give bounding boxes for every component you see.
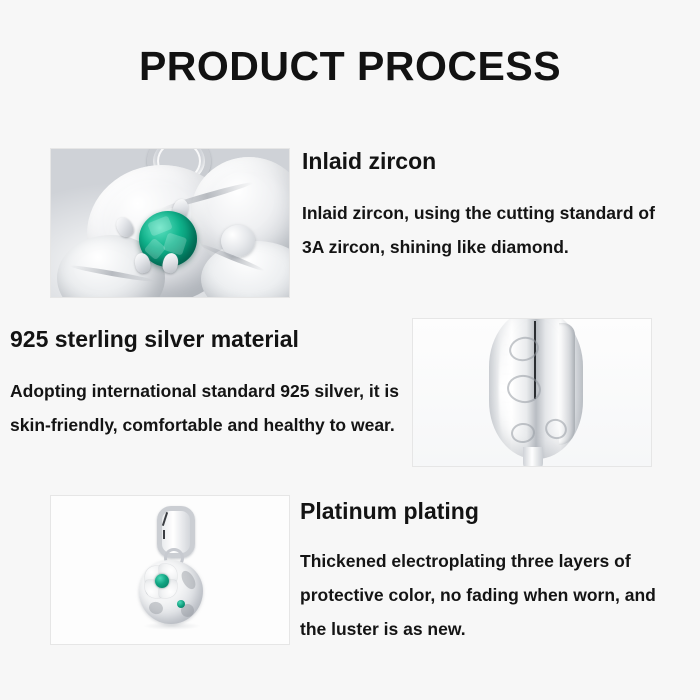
section-heading-platinum-plating: Platinum plating [300,498,479,526]
photo-backdrop [51,496,289,644]
section-body-inlaid-zircon: Inlaid zircon, using the cutting standar… [302,196,674,264]
photo-backdrop [413,319,651,466]
openwork-cutout [148,600,164,615]
green-zircon-stone [155,574,169,588]
clasp-stem [523,447,543,467]
product-photo-inlaid-zircon[interactable] [50,148,290,298]
section-heading-inlaid-zircon: Inlaid zircon [302,148,436,176]
green-accent-stone [177,600,185,608]
openwork-cutout [179,569,199,592]
section-heading-silver-material: 925 sterling silver material [10,326,299,354]
section-body-platinum-plating: Thickened electroplating three layers of… [300,544,682,646]
gem-facet [163,232,188,255]
page-title: PRODUCT PROCESS [0,44,700,89]
product-photo-platinum-plating[interactable] [50,495,290,645]
photo-backdrop [51,149,289,297]
drop-shadow [143,622,201,630]
section-body-silver-material: Adopting international standard 925 silv… [10,374,402,442]
product-photo-silver-material[interactable] [412,318,652,467]
clasp-notch [163,530,165,539]
pendant-charm-body [139,560,203,624]
